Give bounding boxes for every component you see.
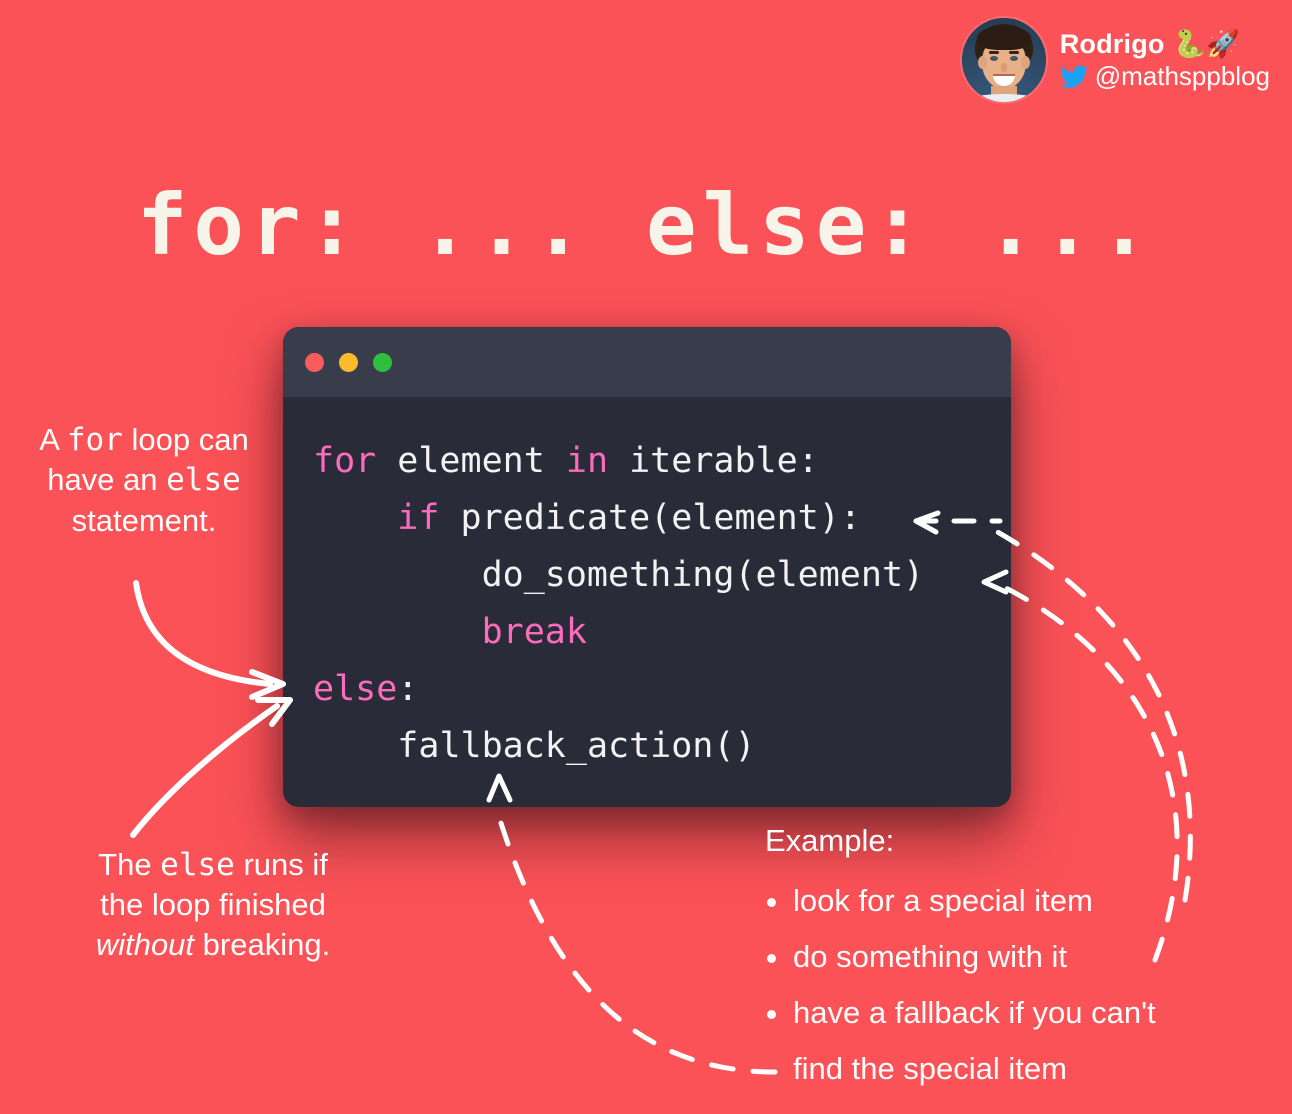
profile-name: Rodrigo 🐍🚀 xyxy=(1060,29,1270,60)
avatar-brow-right xyxy=(1009,51,1019,54)
poster-canvas: Rodrigo 🐍🚀 @mathsppblog for: ... else: .… xyxy=(0,0,1292,1114)
example-list-item: do something with it xyxy=(765,929,1265,985)
code-line: for element in iterable: xyxy=(313,433,1011,490)
profile-handle-row: @mathsppblog xyxy=(1060,62,1270,92)
code-indent xyxy=(313,726,397,766)
maximize-dot-icon[interactable] xyxy=(373,353,392,372)
code-keyword: for xyxy=(313,441,376,481)
annotation-top-l1a: A xyxy=(39,422,67,457)
code-line: else: xyxy=(313,661,1011,718)
code-token: : xyxy=(397,669,418,709)
code-body: for element in iterable: if predicate(el… xyxy=(283,397,1011,775)
annotation-bottom-keyword-else: else xyxy=(160,847,235,883)
code-keyword: else xyxy=(313,669,397,709)
annotation-top-l2a: have an xyxy=(47,462,166,497)
avatar-shirt xyxy=(968,94,1040,102)
code-keyword: in xyxy=(566,441,608,481)
minimize-dot-icon[interactable] xyxy=(339,353,358,372)
code-window-titlebar xyxy=(283,327,1011,397)
annotation-bottom-italic-without: without xyxy=(96,927,194,962)
solid-arrow-bottom-path xyxy=(133,706,277,835)
code-indent xyxy=(313,612,482,652)
code-token: fallback_action() xyxy=(397,726,755,766)
annotation-top-l3: statement. xyxy=(72,503,217,538)
example-title: Example: xyxy=(765,823,1265,859)
avatar-eye-right xyxy=(1010,56,1018,61)
example-list-item: look for a special item xyxy=(765,873,1265,929)
close-dot-icon[interactable] xyxy=(305,353,324,372)
profile-text: Rodrigo 🐍🚀 @mathsppblog xyxy=(1060,29,1270,92)
solid-arrow-top-head xyxy=(252,672,283,697)
profile-handle: @mathsppblog xyxy=(1095,62,1270,92)
example-list: look for a special itemdo something with… xyxy=(765,873,1265,1041)
code-line: fallback_action() xyxy=(313,718,1011,775)
annotation-bottom-l1b: runs if xyxy=(235,847,328,882)
avatar-nose xyxy=(1001,63,1007,72)
code-token: do_something(element) xyxy=(482,555,925,595)
code-indent xyxy=(313,498,397,538)
code-token: iterable: xyxy=(608,441,819,481)
code-line: break xyxy=(313,604,1011,661)
profile-block: Rodrigo 🐍🚀 @mathsppblog xyxy=(962,18,1270,102)
avatar-eye-left xyxy=(990,56,998,61)
annotation-top-l1b: loop can xyxy=(123,422,249,457)
avatar-brow-left xyxy=(989,51,999,54)
code-indent xyxy=(313,555,482,595)
annotation-top-left: A for loop can have an else statement. xyxy=(8,420,280,540)
annotation-top-keyword-else: else xyxy=(166,462,241,498)
annotation-bottom-l1a: The xyxy=(98,847,160,882)
annotation-top-keyword-for: for xyxy=(67,422,123,458)
avatar xyxy=(962,18,1046,102)
avatar-ear-right xyxy=(1021,56,1030,69)
annotation-bottom-l3b: breaking. xyxy=(194,927,330,962)
avatar-ear-left xyxy=(978,56,987,69)
code-token: element xyxy=(376,441,566,481)
twitter-bird-icon xyxy=(1060,65,1088,89)
code-keyword: if xyxy=(397,498,439,538)
annotation-bottom-l2: the loop finished xyxy=(100,887,326,922)
code-window: for element in iterable: if predicate(el… xyxy=(283,327,1011,807)
avatar-fringe xyxy=(977,26,1031,50)
example-continuation: find the special item xyxy=(765,1041,1265,1097)
code-line: do_something(element) xyxy=(313,547,1011,604)
solid-arrow-top-path xyxy=(136,583,270,684)
example-block: Example: look for a special itemdo somet… xyxy=(765,823,1265,1097)
code-keyword: break xyxy=(482,612,587,652)
example-list-item: have a fallback if you can't xyxy=(765,985,1265,1041)
dashed-arrow-3-path xyxy=(500,820,775,1072)
annotation-bottom-left: The else runs if the loop finished witho… xyxy=(58,845,368,964)
page-title: for: ... else: ... xyxy=(0,176,1292,274)
code-line: if predicate(element): xyxy=(313,490,1011,547)
code-token: predicate(element): xyxy=(439,498,860,538)
